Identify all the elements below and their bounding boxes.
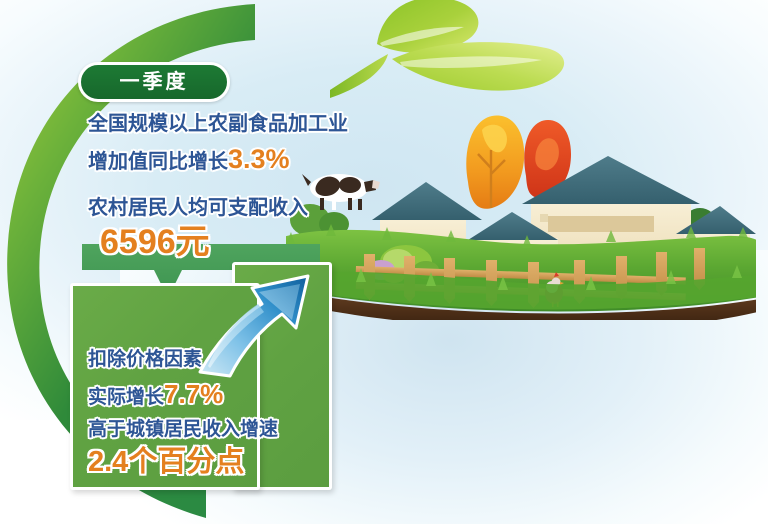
stat-bottom-big-value: 2.4个百分点 bbox=[88, 444, 378, 482]
stat-bottom-line2-value: 7.7% bbox=[164, 379, 223, 409]
stat-bottom-line2-prefix: 实际增长 bbox=[88, 387, 164, 408]
quarter-badge: 一季度 bbox=[78, 62, 230, 102]
infographic-canvas: 一季度 全国规模以上农副食品加工业 增加值同比增长3.3% 农村居民人均可支配收… bbox=[0, 0, 768, 524]
stat-top-line3: 农村居民人均可支配收入 bbox=[88, 194, 408, 224]
stat-top-line1: 全国规模以上农副食品加工业 bbox=[88, 110, 408, 140]
stat-top-big-value: 6596元 bbox=[100, 225, 210, 259]
quarter-badge-label: 一季度 bbox=[120, 72, 189, 92]
stat-bottom-line1: 扣除价格因素 bbox=[88, 345, 378, 374]
stat-top-line2-value: 3.3% bbox=[228, 144, 290, 174]
stat-bottom-line2: 实际增长7.7% bbox=[88, 374, 378, 414]
spacer bbox=[88, 180, 408, 194]
stat-top-block: 全国规模以上农副食品加工业 增加值同比增长3.3% 农村居民人均可支配收入 bbox=[88, 110, 408, 223]
stat-bottom-line3: 高于城镇居民收入增速 bbox=[88, 415, 378, 444]
stat-bottom-block: 扣除价格因素 实际增长7.7% 高于城镇居民收入增速 2.4个百分点 bbox=[88, 345, 378, 482]
stat-top-line2: 增加值同比增长3.3% bbox=[88, 140, 408, 180]
stat-top-line2-prefix: 增加值同比增长 bbox=[88, 151, 228, 173]
autumn-tree bbox=[466, 116, 524, 209]
